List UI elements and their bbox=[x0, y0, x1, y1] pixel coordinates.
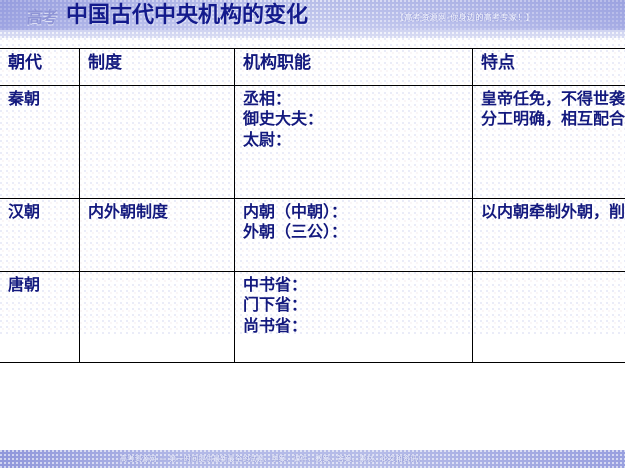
feature-item: 皇帝任免，不得世袭； bbox=[481, 89, 625, 109]
function-item: 门下省： bbox=[243, 295, 466, 315]
cell-dynasty: 汉朝 bbox=[0, 199, 80, 272]
slide-header-band: 高考 中国古代中央机构的变化 【高考资源网-你身边的高考专家！】 bbox=[0, 0, 625, 38]
cell-system bbox=[80, 86, 235, 199]
table-header-row: 朝代 制度 机构职能 特点 bbox=[0, 49, 625, 86]
table-row: 唐朝 中书省： 门下省： 尚书省： bbox=[0, 272, 625, 363]
slide-body: 朝代 制度 机构职能 特点 秦朝 丞相： 御史大夫： 太尉： 皇帝任免，不得世袭… bbox=[0, 38, 625, 450]
feature-item: 分工明确，相互配合与牵制 bbox=[481, 109, 625, 129]
function-item: 内朝（中朝）： bbox=[243, 202, 466, 222]
function-item: 太尉： bbox=[243, 130, 466, 150]
footer-watermark: 高考资源网 — 第一时间提供最新最全的试题、学案、课件、教案、答案、素材、论文和… bbox=[120, 454, 425, 464]
column-header-system: 制度 bbox=[80, 49, 235, 86]
cell-system bbox=[80, 272, 235, 363]
central-government-table: 朝代 制度 机构职能 特点 秦朝 丞相： 御史大夫： 太尉： 皇帝任免，不得世袭… bbox=[0, 48, 625, 363]
page-title: 中国古代中央机构的变化 bbox=[66, 1, 308, 31]
cell-functions: 内朝（中朝）： 外朝（三公）： bbox=[235, 199, 473, 272]
cell-features: 皇帝任免，不得世袭； 分工明确，相互配合与牵制 bbox=[473, 86, 625, 199]
cell-functions: 中书省： 门下省： 尚书省： bbox=[235, 272, 473, 363]
slide-footer-band: 高考资源网 — 第一时间提供最新最全的试题、学案、课件、教案、答案、素材、论文和… bbox=[0, 450, 625, 468]
table-row: 秦朝 丞相： 御史大夫： 太尉： 皇帝任免，不得世袭； 分工明确，相互配合与牵制 bbox=[0, 86, 625, 199]
cell-dynasty: 秦朝 bbox=[0, 86, 80, 199]
column-header-dynasty: 朝代 bbox=[0, 49, 80, 86]
column-header-function: 机构职能 bbox=[235, 49, 473, 86]
cell-system: 内外朝制度 bbox=[80, 199, 235, 272]
cell-dynasty: 唐朝 bbox=[0, 272, 80, 363]
function-item: 中书省： bbox=[243, 275, 466, 295]
gaokao-logo: 高考 bbox=[17, 2, 68, 30]
feature-item: 以内朝牵制外朝，削弱相权 bbox=[481, 202, 625, 222]
cell-functions: 丞相： 御史大夫： 太尉： bbox=[235, 86, 473, 199]
cell-features bbox=[473, 272, 625, 363]
column-header-feature: 特点 bbox=[473, 49, 625, 86]
function-item: 尚书省： bbox=[243, 316, 466, 336]
function-item: 御史大夫： bbox=[243, 109, 466, 129]
header-watermark: 【高考资源网-你身边的高考专家！】 bbox=[396, 12, 534, 23]
cell-features: 以内朝牵制外朝，削弱相权 bbox=[473, 199, 625, 272]
function-item: 外朝（三公）： bbox=[243, 222, 466, 242]
table-row: 汉朝 内外朝制度 内朝（中朝）： 外朝（三公）： 以内朝牵制外朝，削弱相权 bbox=[0, 199, 625, 272]
function-item: 丞相： bbox=[243, 89, 466, 109]
